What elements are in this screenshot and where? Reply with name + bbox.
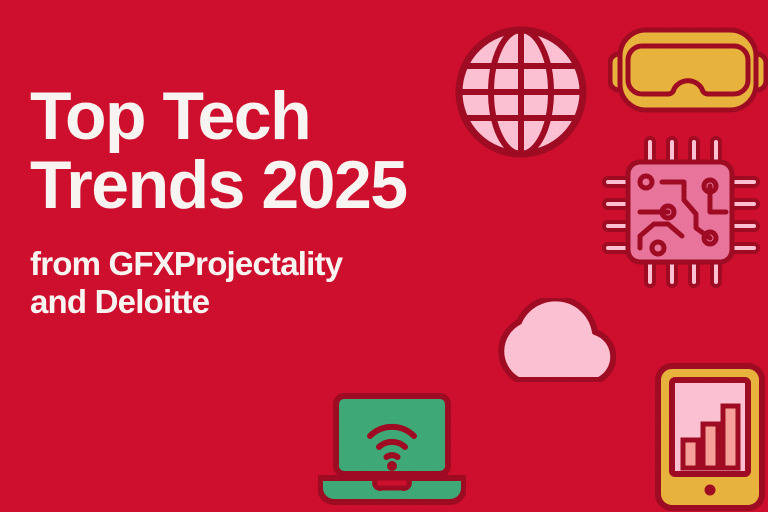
globe-icon: [452, 26, 590, 158]
subtitle-line-1: from GFXProjectality: [30, 245, 470, 284]
chip-icon: [600, 134, 760, 290]
text-block: Top Tech Trends 2025 from GFXProjectalit…: [30, 84, 470, 322]
poster-canvas: Top Tech Trends 2025 from GFXProjectalit…: [0, 0, 768, 512]
laptop-wifi-icon: [318, 392, 466, 512]
headline-line-1: Top Tech: [30, 84, 470, 149]
headline-line-2: Trends 2025: [30, 153, 470, 218]
tablet-chart-icon: [652, 362, 768, 512]
cloud-icon: [478, 298, 636, 382]
vr-goggles-icon: [608, 26, 768, 114]
subtitle-line-2: and Deloitte: [30, 283, 470, 322]
